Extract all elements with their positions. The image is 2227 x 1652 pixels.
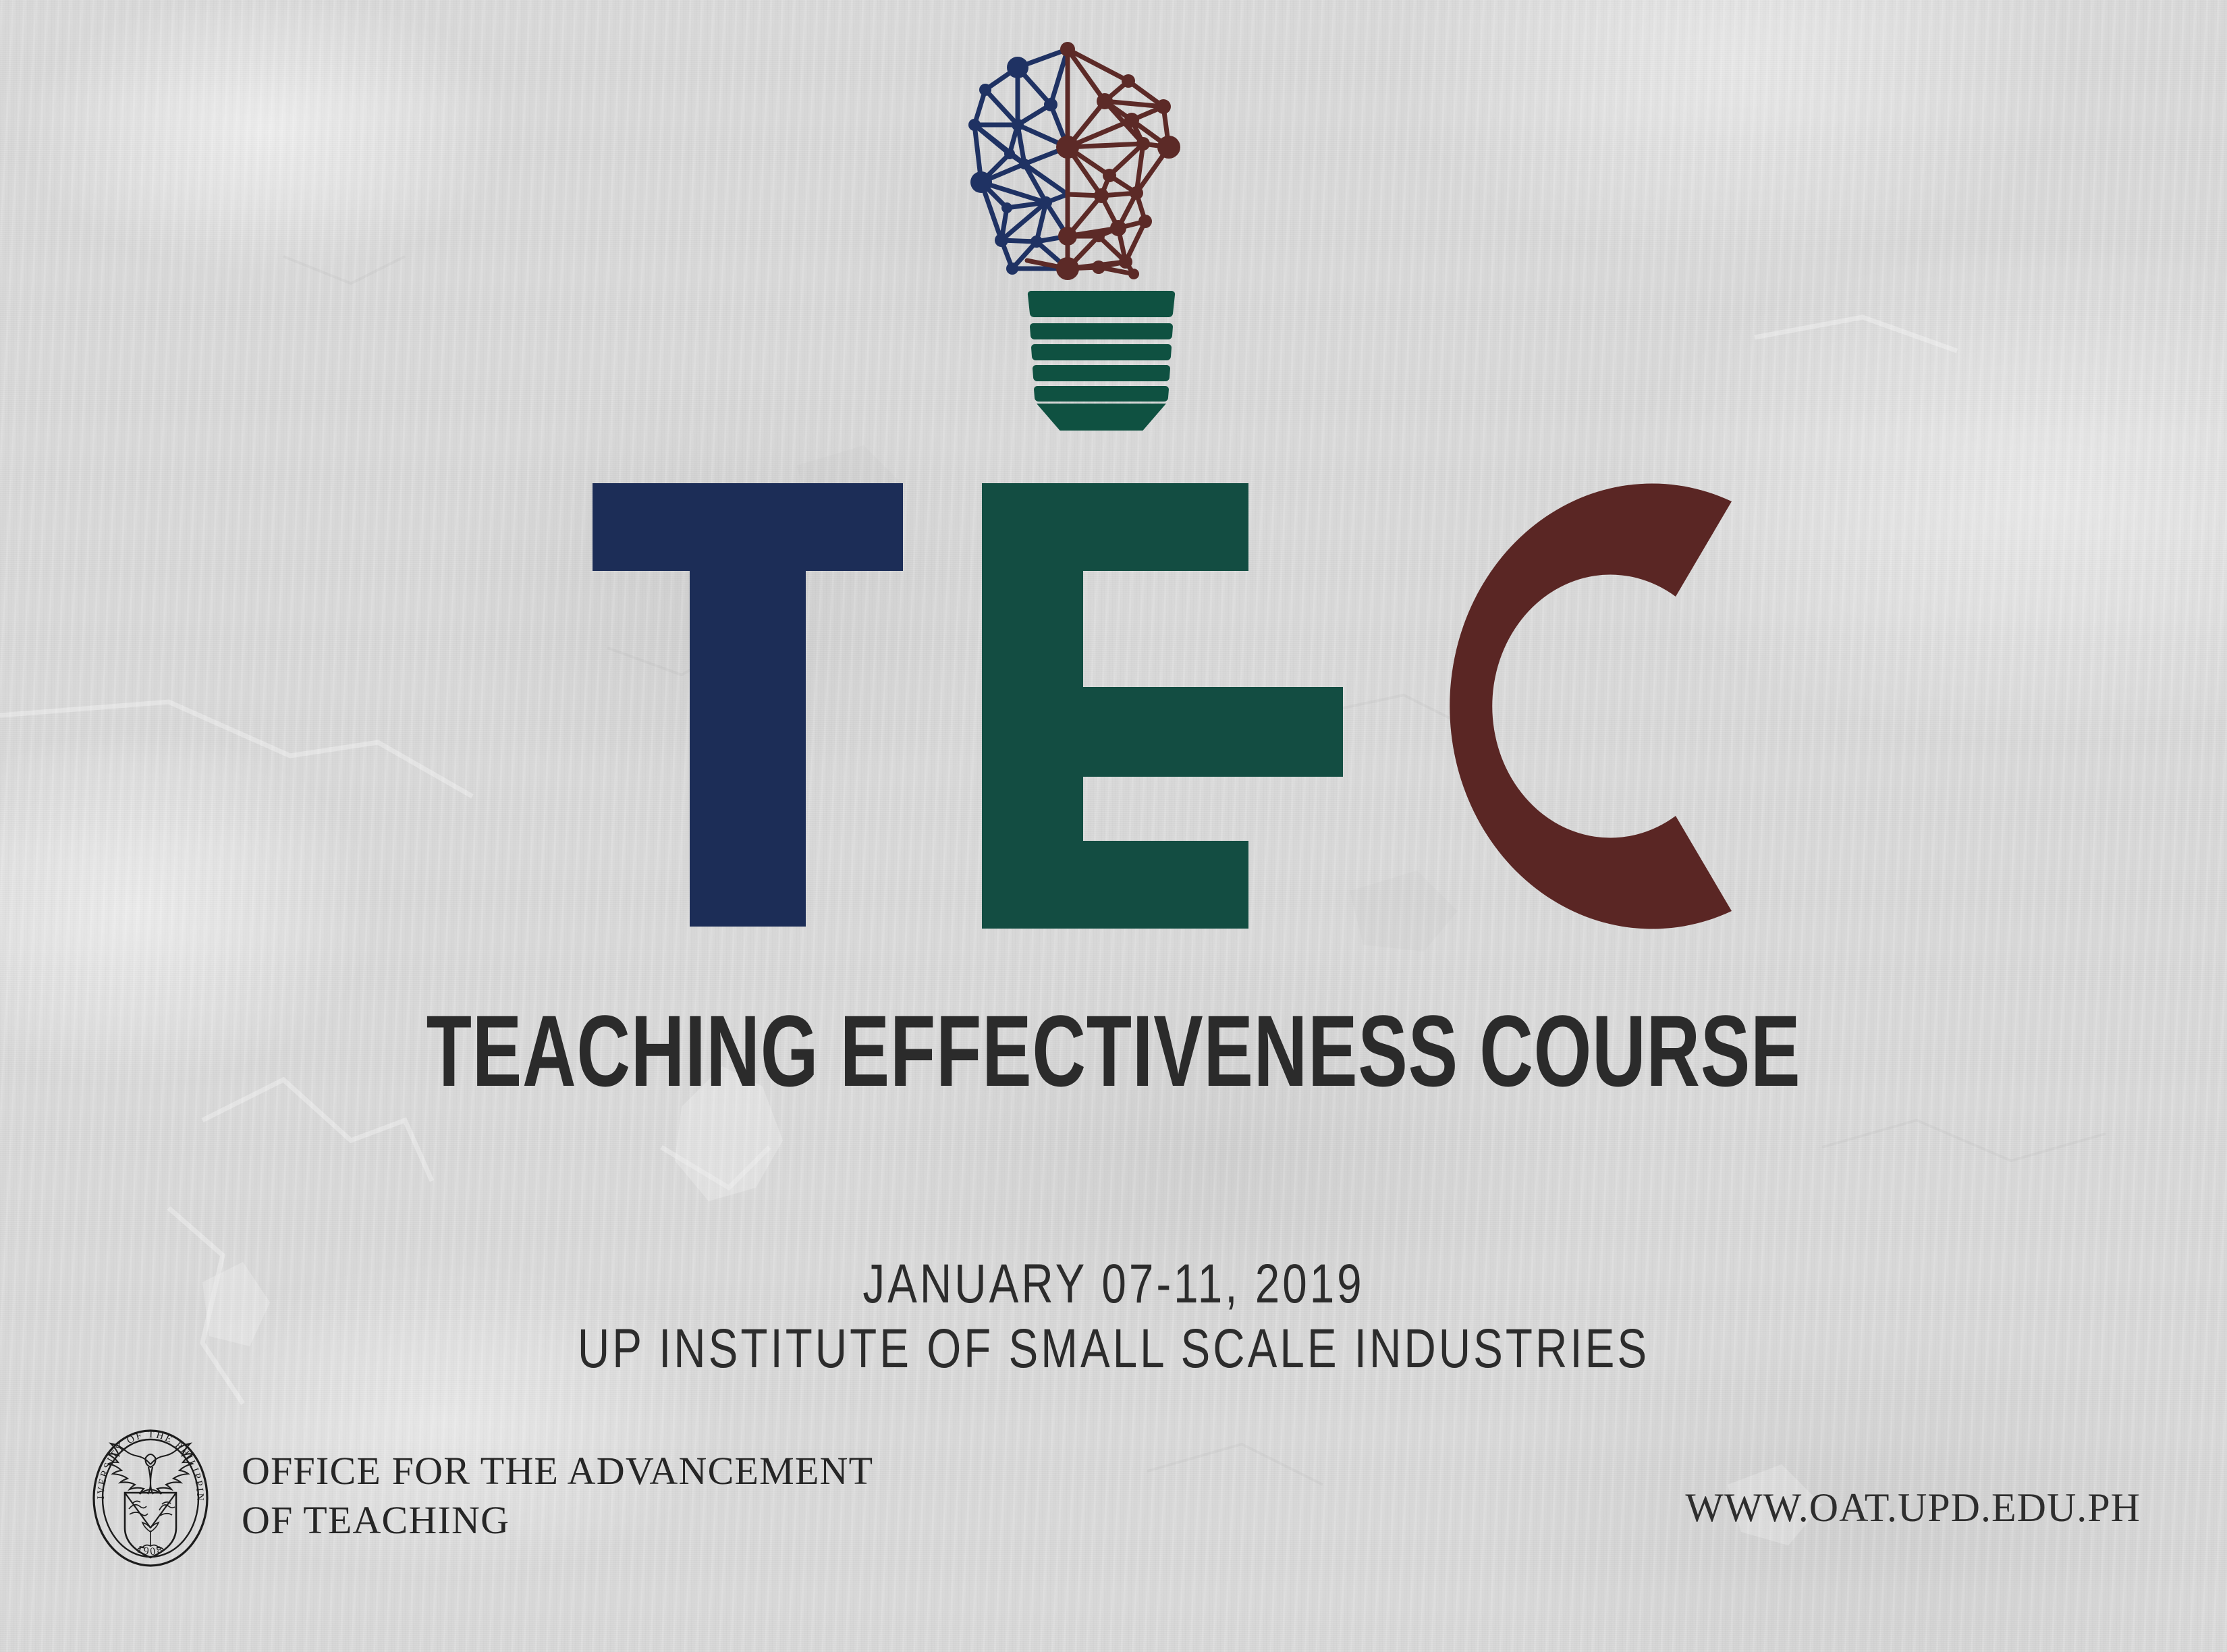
letter-C — [1450, 484, 1732, 929]
poster-canvas: TEACHING EFFECTIVENESS COURSE JANUARY 07… — [0, 0, 2227, 1652]
up-seal: UNIVERSITY OF THE PHILIPPINES 1908 — [86, 1423, 215, 1568]
bulb-base — [1028, 291, 1175, 431]
up-seal-svg: UNIVERSITY OF THE PHILIPPINES 1908 — [86, 1423, 215, 1568]
website-url[interactable]: WWW.OAT.UPD.EDU.PH — [1685, 1483, 2141, 1532]
event-venue: UP INSTITUTE OF SMALL SCALE INDUSTRIES — [223, 1317, 2004, 1381]
office-name: OFFICE FOR THE ADVANCEMENT OF TEACHING — [242, 1446, 873, 1545]
network-lightbulb-logo — [966, 26, 1250, 431]
tec-letters-svg — [0, 464, 2227, 930]
lightbulb-svg — [966, 26, 1250, 431]
event-details: JANUARY 07-11, 2019 UP INSTITUTE OF SMAL… — [0, 1252, 2227, 1381]
event-date: JANUARY 07-11, 2019 — [223, 1252, 2004, 1317]
letter-E — [982, 483, 1343, 929]
page-title: TEACHING EFFECTIVENESS COURSE — [295, 1000, 1932, 1101]
tec-wordmark — [0, 464, 2227, 930]
letter-T — [593, 483, 903, 927]
bulb-left-network — [974, 49, 1068, 269]
footer-left: UNIVERSITY OF THE PHILIPPINES 1908 — [86, 1423, 873, 1568]
